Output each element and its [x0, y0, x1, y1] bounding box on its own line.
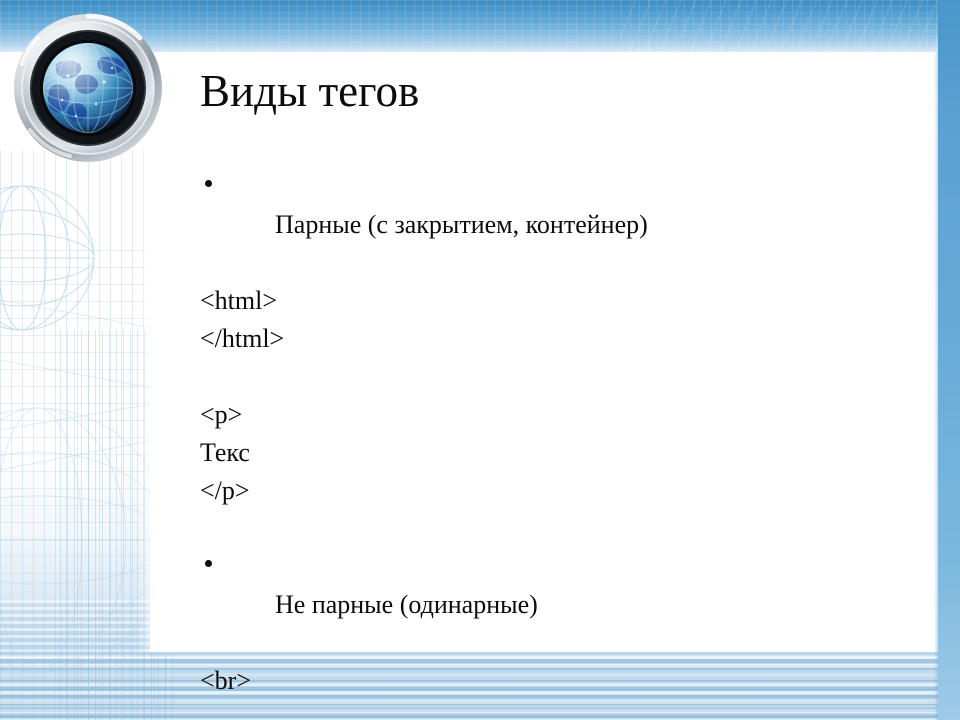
code-line-br: <br> — [200, 662, 840, 700]
code-line-html-close: </html> — [200, 320, 840, 358]
spacer-line-2 — [200, 510, 840, 548]
code-line-p-close: </p> — [200, 472, 840, 510]
code-line-p-text: Текс — [200, 434, 840, 472]
slide-title: Виды тегов — [200, 68, 419, 115]
right-accent-strip-edge — [934, 52, 938, 720]
bullet-dot-icon — [205, 560, 212, 567]
slide-body: Парные (с закрытием, контейнер) <html> <… — [200, 168, 840, 700]
presentation-slide: Виды тегов Парные (с закрытием, контейне… — [0, 0, 960, 720]
bullet-item-unpaired: Не парные (одинарные) — [200, 548, 840, 662]
spacer-line-1 — [200, 358, 840, 396]
code-line-html-open: <html> — [200, 282, 840, 320]
right-accent-strip — [938, 0, 960, 720]
bullet-dot-icon — [205, 180, 212, 187]
background-horizontal-grid-left — [0, 250, 150, 580]
bullet-item-paired-label: Парные (с закрытием, контейнер) — [275, 210, 648, 239]
bullet-item-paired: Парные (с закрытием, контейнер) — [200, 168, 840, 282]
top-accent-band-diagonal-lines — [620, 0, 960, 52]
bullet-item-unpaired-label: Не парные (одинарные) — [275, 590, 538, 619]
globe-icon — [12, 12, 164, 164]
code-line-p-open: <p> — [200, 396, 840, 434]
